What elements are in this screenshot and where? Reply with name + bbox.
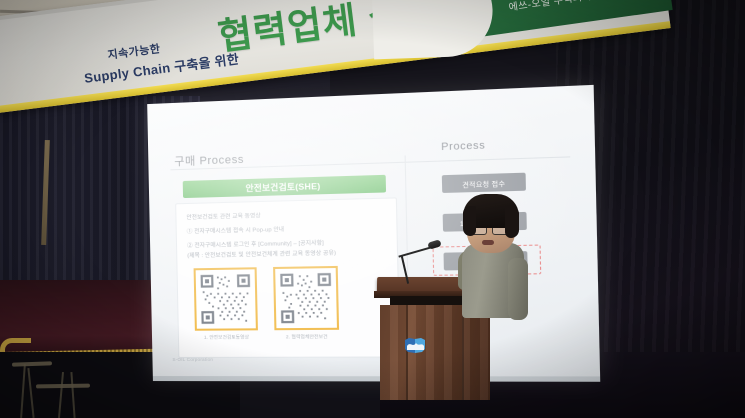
qr-code-icon [273,266,339,330]
qr-caption: 1. 안전보건검토동영상 [195,334,258,340]
process-step-box: 견적요청 접수 [442,173,526,193]
soil-company-text: 에쓰-오일 주식회사 [508,0,593,14]
speaker-arm [508,258,528,320]
content-card: 안전보건검토 관련 교육 동영상 ① 전자구매시스템 접속 시 Pop-up 안… [175,197,400,358]
bullet-text: 안전보건검토 관련 교육 동영상 [186,212,261,222]
qr-caption: 2. 협력업체안전보건 [275,334,340,340]
presentation-slide: 구매 Process Process 안전보건검토(SHE) 안전보건검토 관련… [147,85,600,377]
podium-body [380,305,490,400]
projection-screen: 구매 Process Process 안전보건검토(SHE) 안전보건검토 관련… [147,85,600,377]
process-step-label: 견적요청 접수 [462,177,505,189]
bullet-text: ① 전자구매시스템 접속 시 Pop-up 안내 [187,226,285,237]
section-header-label: 안전보건검토(SHE) [245,179,320,193]
process-panel-title: Process [441,140,485,153]
speaker-hair-side [505,206,519,238]
conference-photo-scene: 구매 Process Process 안전보건검토(SHE) 안전보건검토 관련… [0,0,745,418]
bullet-text: ② 전자구매시스템 로그인 후 [Community] – [공지사항] [187,239,324,250]
qr-code-icon [194,267,258,330]
podium-emblem-icon [404,337,426,354]
speaker-mouth [482,240,494,245]
section-header-bar: 안전보건검토(SHE) [183,175,386,198]
slide-footer: S-OIL Corporation [172,357,213,362]
qr-code-item: 2. 협력업체안전보건 [273,266,339,341]
screen-bottom-edge [153,376,600,382]
speaker-hair-side [463,206,476,236]
qr-code-item: 1. 안전보건검토동영상 [194,267,259,341]
bullet-text: (제목 : 안전보건검토 및 안전보건체계 관련 교육 동영상 공유) [187,249,336,260]
